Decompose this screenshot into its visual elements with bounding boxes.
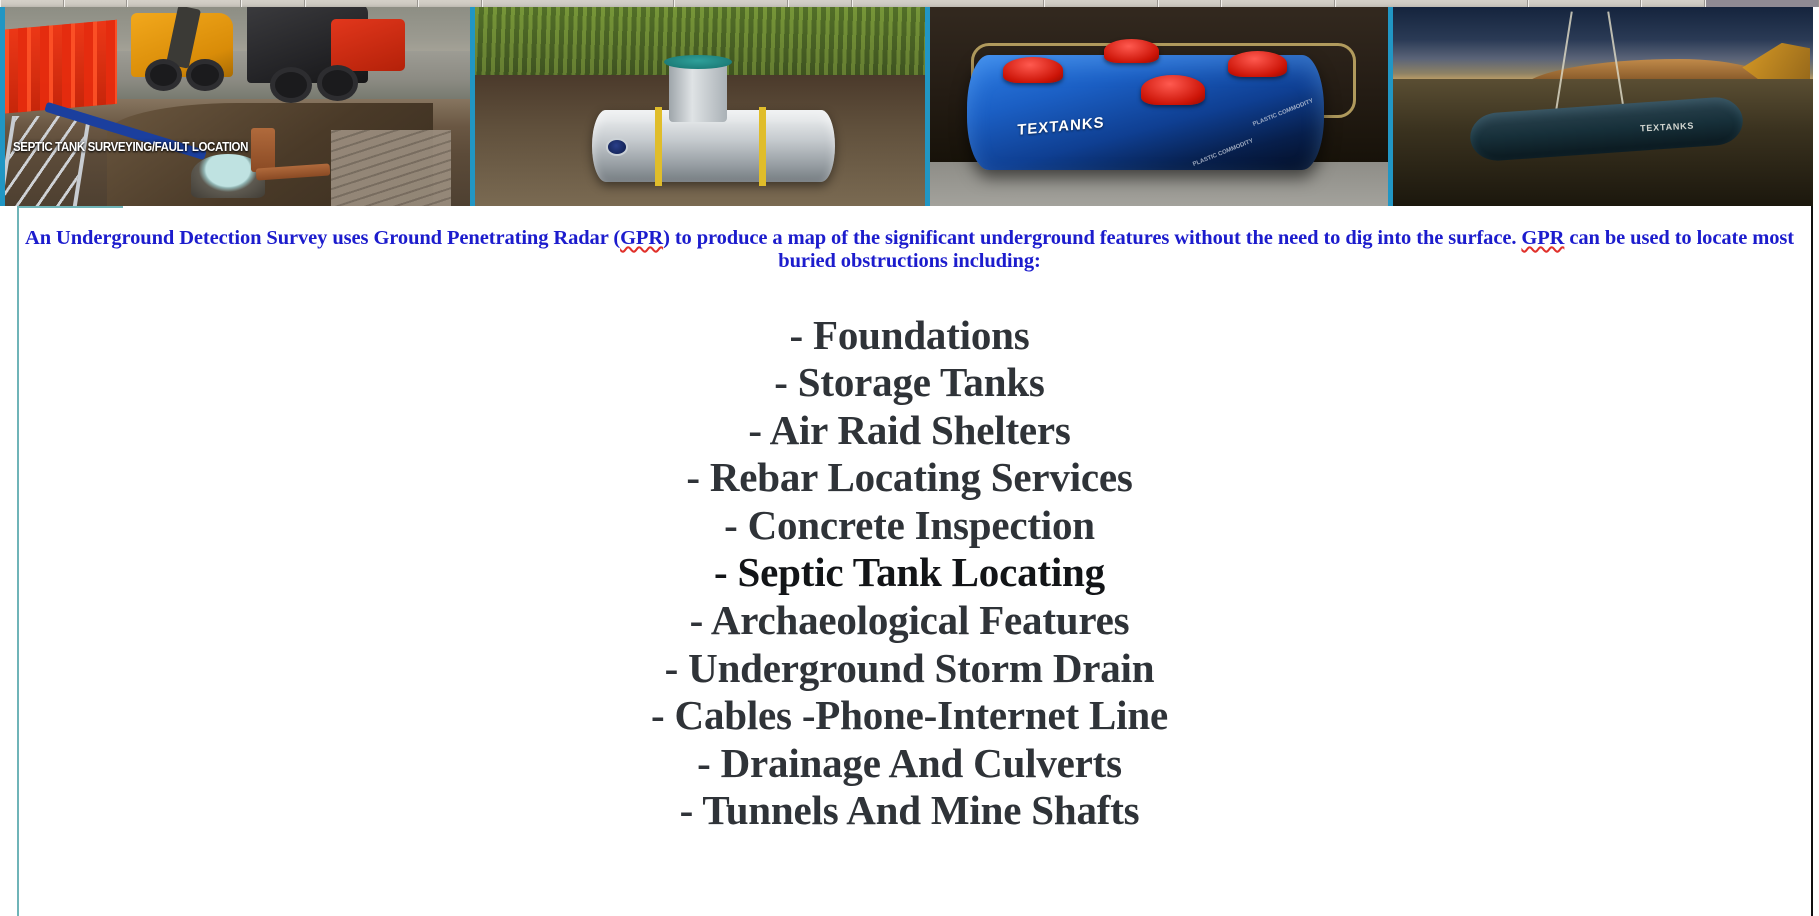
intro-text-part-2: ) to produce a map of the significant un… (663, 227, 1521, 249)
red-safety-barrier (0, 20, 117, 114)
broken-paving-pile (331, 130, 452, 206)
chrome-segment[interactable] (127, 0, 241, 7)
digger-wheel (270, 67, 312, 103)
excavation-scene (5, 7, 470, 206)
lifting-strap (759, 107, 766, 187)
list-item: - Underground Storm Drain (0, 645, 1819, 693)
list-item: - Cables -Phone-Internet Line (0, 692, 1819, 740)
chrome-segment[interactable] (1221, 0, 1335, 7)
intro-paragraph: An Underground Detection Survey uses Gro… (0, 206, 1819, 274)
header-gallery: SEPTIC TANK SURVEYING/FAULT LOCATION TEX… (0, 7, 1819, 206)
chrome-segment[interactable] (674, 0, 788, 7)
gpr-abbreviation-first: GPR (620, 227, 663, 249)
chrome-segment[interactable] (64, 0, 128, 7)
silver-tank-scene (475, 7, 925, 206)
dusk-install-scene: TEXTANKS (1393, 7, 1819, 206)
obstruction-list: - Foundations - Storage Tanks - Air Raid… (0, 274, 1819, 835)
content-top-rule (17, 206, 123, 208)
red-access-cap (1003, 57, 1063, 83)
intro-text-part-1: An Underground Detection Survey uses Gro… (25, 227, 620, 249)
digger-wheel (145, 59, 182, 91)
red-access-cap (1228, 51, 1288, 77)
chrome-segment[interactable] (852, 0, 1044, 7)
content-left-rule (17, 206, 19, 916)
chrome-segment[interactable] (788, 0, 852, 7)
chrome-segment[interactable] (0, 0, 64, 7)
chrome-segment[interactable] (241, 0, 305, 7)
excavation-site-photo[interactable]: SEPTIC TANK SURVEYING/FAULT LOCATION (0, 7, 470, 206)
blue-tank-scene: TEXTANKS PLASTIC COMMODITY PLASTIC COMMO… (930, 7, 1388, 206)
page-content: An Underground Detection Survey uses Gro… (0, 206, 1819, 916)
green-riser-lid (664, 55, 732, 69)
lifting-strap (655, 107, 662, 187)
chrome-segment[interactable] (482, 0, 674, 7)
list-item: - Tunnels And Mine Shafts (0, 787, 1819, 835)
chrome-segment[interactable] (1705, 0, 1819, 7)
list-item: - Concrete Inspection (0, 502, 1819, 550)
chrome-segment[interactable] (1158, 0, 1222, 7)
list-item: - Drainage And Culverts (0, 740, 1819, 788)
chrome-segment[interactable] (418, 0, 482, 7)
list-item: - Septic Tank Locating (0, 549, 1819, 597)
chrome-segment[interactable] (1335, 0, 1527, 7)
chrome-segment[interactable] (305, 0, 419, 7)
red-excavator-body (331, 19, 405, 71)
red-access-cap (1104, 39, 1159, 63)
chrome-segment[interactable] (1044, 0, 1158, 7)
silver-tank-photo[interactable] (470, 7, 925, 206)
list-item: - Foundations (0, 312, 1819, 360)
list-item: - Rebar Locating Services (0, 454, 1819, 502)
chrome-segment[interactable] (1641, 0, 1705, 7)
ladder (0, 116, 91, 206)
crane-lowering-tank-photo[interactable]: TEXTANKS (1388, 7, 1819, 206)
blue-textanks-photo[interactable]: TEXTANKS PLASTIC COMMODITY PLASTIC COMMO… (925, 7, 1388, 206)
list-item: - Air Raid Shelters (0, 407, 1819, 455)
list-item: - Storage Tanks (0, 359, 1819, 407)
browser-chrome-sliver (0, 0, 1819, 7)
red-access-cap (1141, 75, 1205, 105)
brown-pipe (251, 128, 274, 172)
chrome-segment[interactable] (1528, 0, 1642, 7)
gpr-abbreviation-second: GPR (1521, 227, 1564, 249)
tank-inlet-port (606, 138, 629, 156)
photo-caption: SEPTIC TANK SURVEYING/FAULT LOCATION (13, 140, 248, 154)
digger-wheel (186, 59, 223, 91)
digger-wheel (317, 65, 359, 101)
list-item: - Archaeological Features (0, 597, 1819, 645)
scroll-gutter[interactable] (1813, 7, 1819, 916)
